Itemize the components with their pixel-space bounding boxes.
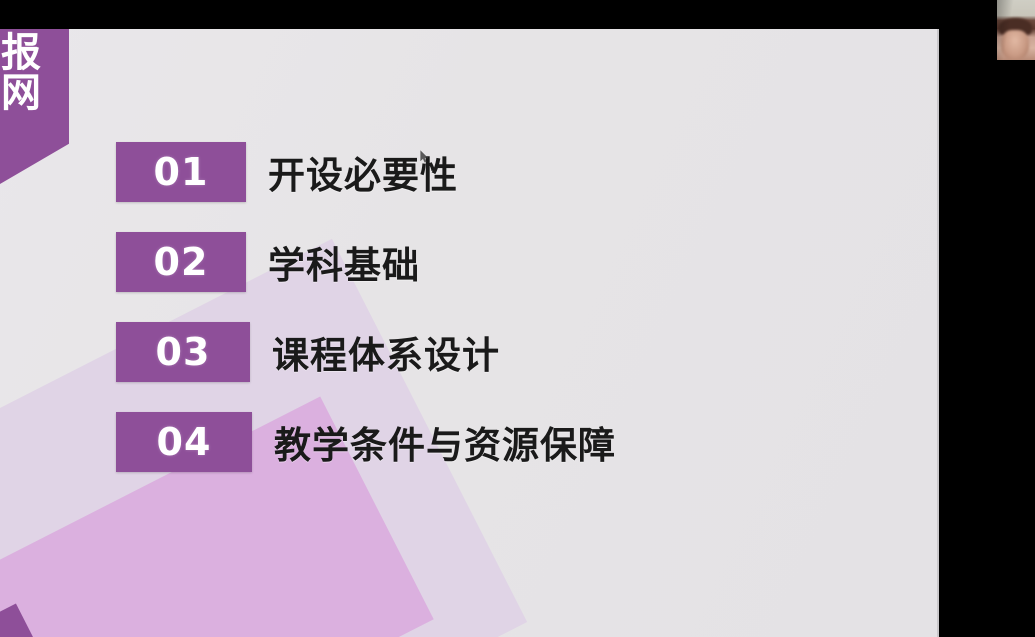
agenda-list: 01 开设必要性 02 学科基础 03 课程体系设计 04 教学条件与资源保障 — [116, 142, 876, 502]
top-black-bar — [0, 0, 939, 29]
video-frame-shading — [997, 0, 1035, 60]
screen-root: 报网 01 开设必要性 02 学科基础 03 课程体系设计 04 教学条件与资源… — [0, 0, 1035, 637]
agenda-item-label: 教学条件与资源保障 — [274, 415, 616, 469]
agenda-item-01[interactable]: 01 开设必要性 — [116, 142, 876, 202]
agenda-item-04[interactable]: 04 教学条件与资源保障 — [116, 412, 876, 472]
agenda-number-badge: 01 — [116, 142, 246, 202]
right-black-bar — [939, 0, 1035, 637]
decor-ribbon-dark — [0, 604, 84, 637]
agenda-number-badge: 02 — [116, 232, 246, 292]
corner-banner-label: 报网 — [0, 31, 38, 111]
agenda-item-03[interactable]: 03 课程体系设计 — [116, 322, 876, 382]
participant-video-tile[interactable] — [997, 0, 1035, 60]
agenda-item-label: 课程体系设计 — [272, 325, 500, 379]
agenda-number-badge: 04 — [116, 412, 252, 472]
agenda-number-badge: 03 — [116, 322, 250, 382]
agenda-item-label: 学科基础 — [268, 235, 420, 289]
agenda-item-label: 开设必要性 — [268, 145, 458, 199]
agenda-item-02[interactable]: 02 学科基础 — [116, 232, 876, 292]
corner-banner: 报网 — [0, 29, 69, 184]
shared-slide[interactable]: 报网 01 开设必要性 02 学科基础 03 课程体系设计 04 教学条件与资源… — [0, 29, 939, 637]
